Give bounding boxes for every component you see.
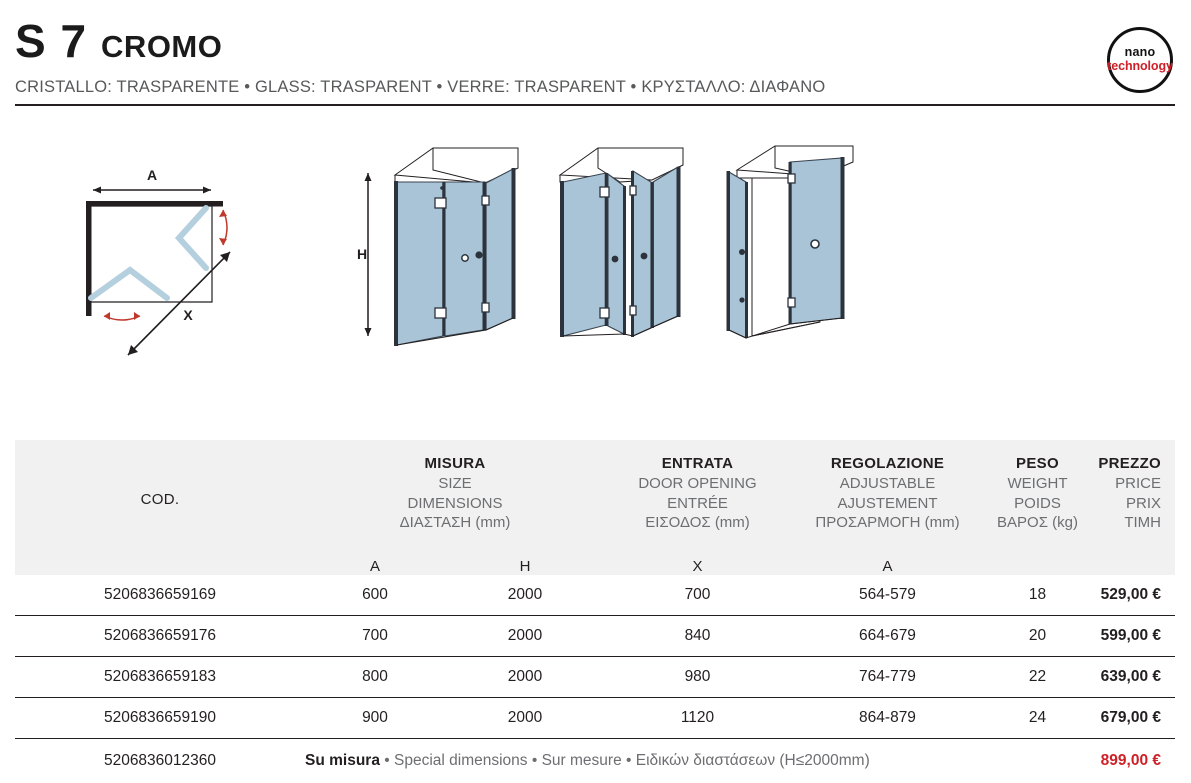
header-weight-l3: POIDS (985, 494, 1090, 514)
row-size-a: 900 (305, 698, 445, 739)
row-size-h: 2000 (445, 575, 605, 616)
custom-row-code: 5206836012360 (15, 739, 305, 783)
header-price-l4: TIMH (1090, 513, 1161, 533)
header-price-l2: PRICE (1090, 474, 1161, 494)
plan-label-a: A (147, 167, 157, 183)
header-weight-l2: WEIGHT (985, 474, 1090, 494)
model-finish: CROMO (101, 31, 222, 62)
plan-swing-arrows (104, 210, 227, 320)
custom-row-price: 899,00 € (1090, 739, 1175, 783)
row-adjust: 564-579 (790, 575, 985, 616)
header-adjustable: REGOLAZIONE ADJUSTABLE AJUSTEMENT ΠΡΟΣΑΡ… (790, 440, 985, 558)
header-size: MISURA SIZE DIMENSIONS ΔΙΑΣΤΑΣΗ (mm) (305, 440, 605, 558)
row-size-a: 600 (305, 575, 445, 616)
row-adjust: 864-879 (790, 698, 985, 739)
table-row[interactable]: 5206836659190 900 2000 1120 864-879 24 6… (15, 698, 1175, 739)
row-weight: 18 (985, 575, 1090, 616)
row-weight: 20 (985, 616, 1090, 657)
subheader-empty-cod (15, 558, 305, 575)
row-opening: 840 (605, 616, 790, 657)
header-size-l2: SIZE (305, 474, 605, 494)
row-code: 5206836659183 (15, 657, 305, 698)
custom-row-label-bold: Su misura (305, 752, 380, 769)
row-size-a: 800 (305, 657, 445, 698)
header-door-opening-l1: ENTRATA (605, 454, 790, 474)
row-adjust: 664-679 (790, 616, 985, 657)
row-price: 599,00 € (1090, 616, 1175, 657)
page-title: S 7 CROMO (15, 18, 222, 64)
table-body: 5206836659169 600 2000 700 564-579 18 52… (15, 575, 1175, 783)
row-price: 679,00 € (1090, 698, 1175, 739)
table-row[interactable]: 5206836659176 700 2000 840 664-679 20 59… (15, 616, 1175, 657)
glass-type-subtitle: CRISTALLO: TRASPARENTE • GLASS: TRASPARE… (15, 78, 825, 97)
row-code: 5206836659176 (15, 616, 305, 657)
header-divider (15, 104, 1175, 106)
row-price: 639,00 € (1090, 657, 1175, 698)
view-closed-label-h: H (357, 246, 367, 262)
header-door-opening: ENTRATA DOOR OPENING ENTRÉE ΕΙΣΟΔΟΣ (mm) (605, 440, 790, 558)
header-cod: COD. (15, 440, 305, 558)
custom-row-label: Su misura • Special dimensions • Sur mes… (305, 739, 1090, 783)
header-door-opening-l2: DOOR OPENING (605, 474, 790, 494)
row-adjust: 764-779 (790, 657, 985, 698)
row-size-a: 700 (305, 616, 445, 657)
plan-door-leaves (91, 208, 206, 298)
header-price: PREZZO PRICE PRIX TIMH (1090, 440, 1175, 558)
header-door-opening-l3: ENTRÉE (605, 494, 790, 514)
row-price: 529,00 € (1090, 575, 1175, 616)
header-weight: PESO WEIGHT POIDS ΒΑΡΟΣ (kg) (985, 440, 1090, 558)
header-weight-l1: PESO (985, 454, 1090, 474)
header-weight-l4: ΒΑΡΟΣ (kg) (985, 513, 1090, 533)
header-adjustable-l3: AJUSTEMENT (790, 494, 985, 514)
table-row[interactable]: 5206836659183 800 2000 980 764-779 22 63… (15, 657, 1175, 698)
nano-technology-badge: nano technology (1107, 27, 1173, 93)
plan-view-diagram: A X (60, 140, 330, 380)
page-header: S 7 CROMO CRISTALLO: TRASPARENTE • GLASS… (0, 0, 1191, 110)
view-doors-folded (690, 140, 870, 355)
view-doors-closed: H (355, 140, 530, 355)
nano-badge-line1: nano (1125, 46, 1156, 60)
view-doors-open (520, 140, 700, 355)
subheader-x: X (605, 558, 790, 575)
custom-row-label-rest: • Special dimensions • Sur mesure • Ειδι… (380, 752, 870, 769)
header-adjustable-l4: ΠΡΟΣΑΡΜΟΓΗ (mm) (790, 513, 985, 533)
header-price-l1: PREZZO (1090, 454, 1161, 474)
subheader-adj: A (790, 558, 985, 575)
header-adjustable-l2: ADJUSTABLE (790, 474, 985, 494)
subheader-empty-weight (985, 558, 1090, 575)
header-size-l1: MISURA (305, 454, 605, 474)
row-weight: 22 (985, 657, 1090, 698)
table-row-custom[interactable]: 5206836012360 Su misura • Special dimens… (15, 739, 1175, 783)
plan-label-x: X (183, 307, 193, 323)
header-cod-label: COD. (141, 491, 180, 508)
height-dimension: H (357, 173, 372, 336)
header-adjustable-l1: REGOLAZIONE (790, 454, 985, 474)
row-size-h: 2000 (445, 698, 605, 739)
table-row[interactable]: 5206836659169 600 2000 700 564-579 18 52… (15, 575, 1175, 616)
header-door-opening-l4: ΕΙΣΟΔΟΣ (mm) (605, 513, 790, 533)
table-header: COD. MISURA SIZE DIMENSIONS ΔΙΑΣΤΑΣΗ (mm… (15, 440, 1175, 575)
row-code: 5206836659169 (15, 575, 305, 616)
header-price-l3: PRIX (1090, 494, 1161, 514)
header-size-l4: ΔΙΑΣΤΑΣΗ (mm) (305, 513, 605, 533)
subheader-a: A (305, 558, 445, 575)
nano-badge-line2: technology (1107, 60, 1173, 74)
row-weight: 24 (985, 698, 1090, 739)
row-opening: 980 (605, 657, 790, 698)
row-size-h: 2000 (445, 657, 605, 698)
subheader-empty-price (1090, 558, 1175, 575)
table-subheader: A H X A (15, 558, 1175, 575)
subheader-h: H (445, 558, 605, 575)
model-code: S 7 (15, 18, 87, 64)
row-code: 5206836659190 (15, 698, 305, 739)
product-spec-table: COD. MISURA SIZE DIMENSIONS ΔΙΑΣΤΑΣΗ (mm… (15, 440, 1175, 783)
row-size-h: 2000 (445, 616, 605, 657)
product-diagrams: A X H (0, 140, 1191, 410)
row-opening: 700 (605, 575, 790, 616)
header-size-l3: DIMENSIONS (305, 494, 605, 514)
row-opening: 1120 (605, 698, 790, 739)
